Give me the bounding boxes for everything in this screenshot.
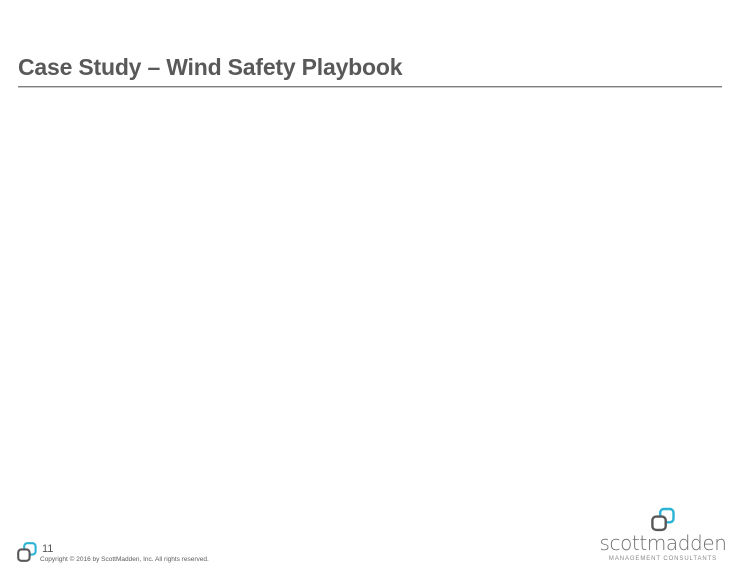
title-divider [18, 86, 722, 88]
slide-canvas: Case Study – Wind Safety Playbook 11 Cop… [0, 0, 740, 572]
page-title: Case Study – Wind Safety Playbook [18, 52, 722, 82]
overlapping-rounded-squares-icon [650, 507, 676, 532]
page-number: 11 [42, 543, 209, 555]
scottmadden-logo: scottmadden MANAGEMENT CONSULTANTS [600, 507, 726, 564]
slide-body [18, 100, 722, 510]
brand-wordmark: scottmadden [599, 533, 726, 554]
overlapping-rounded-squares-icon [16, 541, 38, 563]
copyright-notice: Copyright © 2016 by ScottMadden, Inc. Al… [40, 555, 209, 564]
footer-text-group: 11 Copyright © 2016 by ScottMadden, Inc.… [40, 543, 209, 564]
slide-header: Case Study – Wind Safety Playbook [18, 52, 722, 88]
footer-left-group: 11 Copyright © 2016 by ScottMadden, Inc.… [16, 541, 209, 564]
brand-tagline: MANAGEMENT CONSULTANTS [609, 555, 717, 564]
